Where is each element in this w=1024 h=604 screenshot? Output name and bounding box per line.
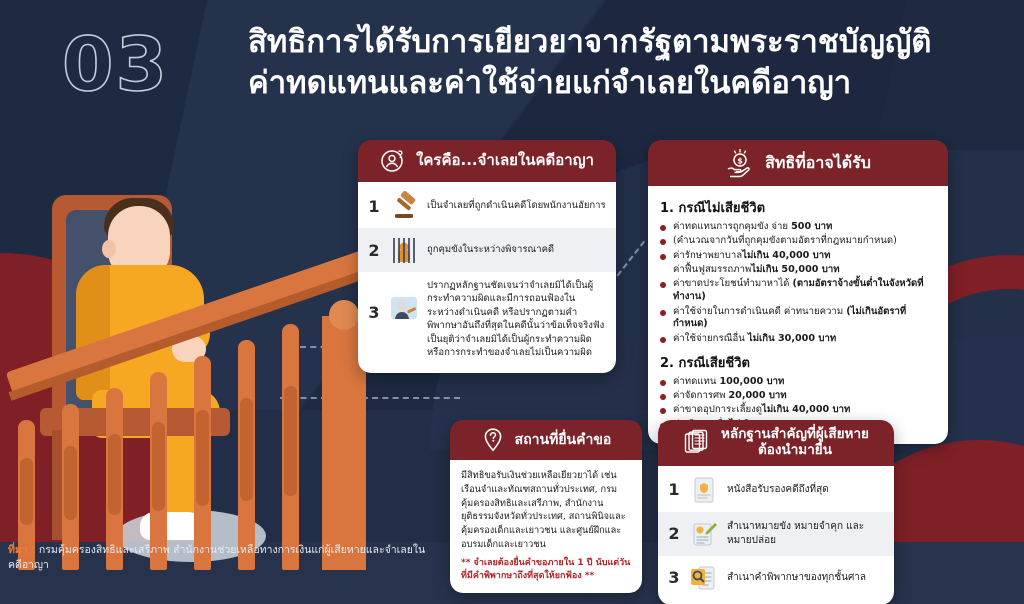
page-title: สิทธิการได้รับการเยียวยาจากรัฐตามพระราชบ… — [248, 22, 1008, 104]
item-bold: 500 บาท — [791, 221, 832, 232]
list-item: ค่าจัดการศพ 20,000 บาท — [660, 390, 936, 403]
map-pin-question-icon — [481, 427, 505, 453]
list-item[interactable]: 1 เป็นจำเลยที่ถูกดำเนินคดีโดยพนักงานอัยก… — [358, 184, 616, 228]
railing-baluster — [194, 356, 211, 570]
magnifier-document-icon — [689, 563, 719, 593]
page-title-line-1: สิทธิการได้รับการเยียวยาจากรัฐตามพระราชบ… — [248, 22, 1008, 63]
card-rights-title: สิทธิที่อาจได้รับ — [765, 154, 871, 173]
section-title-death: 2. กรณีเสียชีวิต — [660, 352, 936, 373]
list-item[interactable]: 2 ถูกคุมขังในระหว่างพิจารณาคดี — [358, 228, 616, 272]
svg-text:$: $ — [737, 157, 743, 166]
list-item: ค่าใช้จ่ายกรณีอื่น ไม่เกิน 30,000 บาท — [660, 333, 936, 346]
card-docs-header: หลักฐานสำคัญที่ผู้เสียหาย ต้องนำมายื่น — [658, 420, 894, 466]
row-text: หนังสือรับรองคดีถึงที่สุด — [727, 483, 829, 497]
list-item[interactable]: 3 ปรากฏหลักฐานชัดเจนว่าจำเลยมิได้เป็นผู้… — [358, 272, 616, 367]
card-place-note: ** จำเลยต้องยื่นคำขอภายใน 1 ปี นับแต่วัน… — [461, 557, 631, 583]
source-text: กรมคุ้มครองสิทธิและเสรีภาพ สำนักงานช่วยเ… — [8, 544, 425, 571]
item-text: ค่ารักษาพยาบาล — [673, 250, 742, 261]
list-item: ค่าใช้จ่ายในการดำเนินคดี ค่าทนายความ (ไม… — [660, 306, 936, 332]
prison-bars-icon — [389, 235, 419, 265]
source-label: ที่มา : — [8, 544, 36, 556]
card-docs-title-line-1: หลักฐานสำคัญที่ผู้เสียหาย — [721, 427, 869, 443]
card-place-title: สถานที่ยื่นคำขอ — [515, 432, 612, 449]
person-question-icon — [380, 148, 406, 174]
item-text: (คำนวณจากวันที่ถูกคุมขังตามอัตราที่กฎหมา… — [673, 235, 897, 246]
rights-list-no-death: ค่าทดแทนการถูกคุมขัง จ่าย 500 บาท (คำนวณ… — [660, 221, 936, 346]
warrant-document-icon — [689, 519, 719, 549]
section-title-no-death: 1. กรณีไม่เสียชีวิต — [660, 197, 936, 218]
person-body-shade — [76, 265, 110, 400]
item-bold: ไม่เกิน 50,000 บาท — [751, 264, 839, 275]
card-submission-place[interactable]: สถานที่ยื่นคำขอ มีสิทธิขอรับเงินช่วยเหลื… — [450, 420, 642, 593]
gavel-icon — [389, 191, 419, 221]
card-docs-title: หลักฐานสำคัญที่ผู้เสียหาย ต้องนำมายื่น — [721, 427, 869, 459]
card-who-header: ใครคือ...จำเลยในคดีอาญา — [358, 140, 616, 182]
card-place-body: มีสิทธิขอรับเงินช่วยเหลือเยียวยาได้ เช่น… — [450, 460, 642, 593]
card-rights-body: 1. กรณีไม่เสียชีวิต ค่าทดแทนการถูกคุมขัง… — [648, 186, 948, 444]
railing-baluster — [238, 340, 255, 570]
hand-coin-icon: $ — [725, 148, 755, 178]
row-text: ปรากฏหลักฐานชัดเจนว่าจำเลยมิได้เป็นผู้กร… — [427, 279, 606, 360]
row-text: สำเนาหมายขัง หมายจำคุก และหมายปล่อย — [727, 520, 884, 548]
item-text: ค่าขาดอุปการะเลี้ยงดู — [673, 404, 762, 415]
list-item: ค่าทดแทนการถูกคุมขัง จ่าย 500 บาท — [660, 221, 936, 234]
row-text: สำเนาคำพิพากษาของทุกชั้นศาล — [727, 571, 866, 585]
card-who-is-defendant[interactable]: ใครคือ...จำเลยในคดีอาญา 1 เป็นจำเลยที่ถู… — [358, 140, 616, 373]
list-item: ค่าขาดอุปการะเลี้ยงดูไม่เกิน 40,000 บาท — [660, 404, 936, 417]
row-number: 1 — [667, 480, 681, 499]
item-bold: ไม่เกิน 30,000 บาท — [748, 333, 836, 344]
list-item: ค่าทดแทน 100,000 บาท — [660, 376, 936, 389]
list-item[interactable]: 2 สำเนาหมายขัง หมายจำคุก และหมายปล่อย — [658, 512, 894, 556]
railing-baluster — [282, 324, 299, 570]
row-number: 3 — [667, 568, 681, 587]
item-bold: 20,000 บาท — [728, 390, 786, 401]
card-docs-title-line-2: ต้องนำมายื่น — [721, 443, 869, 459]
item-bold: ไม่เกิน 40,000 บาท — [742, 250, 830, 261]
list-item: (คำนวณจากวันที่ถูกคุมขังตามอัตราที่กฎหมา… — [660, 235, 936, 248]
card-who-title: ใครคือ...จำเลยในคดีอาญา — [416, 152, 594, 170]
card-required-documents[interactable]: หลักฐานสำคัญที่ผู้เสียหาย ต้องนำมายื่น 1… — [658, 420, 894, 604]
list-item: ค่าขาดประโยชน์ทำมาหาได้ (ตามอัตราจ้างขั้… — [660, 278, 936, 304]
item-bold: ไม่เกิน 40,000 บาท — [762, 404, 850, 415]
certificate-document-icon — [689, 475, 719, 505]
row-number: 1 — [367, 197, 381, 216]
row-number: 3 — [367, 303, 381, 322]
card-docs-body: 1 หนังสือรับรองคดีถึงที่สุด 2 — [658, 466, 894, 604]
judge-icon — [389, 293, 419, 323]
documents-icon — [683, 429, 711, 457]
list-item: ค่ารักษาพยาบาลไม่เกิน 40,000 บาท — [660, 250, 936, 263]
item-text: ค่าฟื้นฟูสมรรถภาพ — [673, 264, 751, 275]
item-text: ค่าใช้จ่ายในการดำเนินคดี ค่าทนายความ — [673, 306, 846, 317]
card-possible-rights[interactable]: $ สิทธิที่อาจได้รับ 1. กรณีไม่เสียชีวิต … — [648, 140, 948, 444]
item-text: ค่าจัดการศพ — [673, 390, 728, 401]
card-rights-header: $ สิทธิที่อาจได้รับ — [648, 140, 948, 186]
row-number: 2 — [667, 524, 681, 543]
item-bold: 100,000 บาท — [719, 376, 784, 387]
row-text: ถูกคุมขังในระหว่างพิจารณาคดี — [427, 243, 554, 256]
list-item[interactable]: 1 หนังสือรับรองคดีถึงที่สุด — [658, 468, 894, 512]
source-footer: ที่มา : กรมคุ้มครองสิทธิและเสรีภาพ สำนัก… — [8, 543, 438, 573]
card-who-body: 1 เป็นจำเลยที่ถูกดำเนินคดีโดยพนักงานอัยก… — [358, 182, 616, 373]
railing-newel-cap — [329, 300, 359, 330]
card-place-text: มีสิทธิขอรับเงินช่วยเหลือเยียวยาได้ เช่น… — [461, 469, 631, 552]
section-number: 03 — [62, 22, 169, 108]
person-ear — [102, 240, 116, 258]
item-text: ค่าใช้จ่ายกรณีอื่น — [673, 333, 748, 344]
list-item: ค่าฟื้นฟูสมรรถภาพไม่เกิน 50,000 บาท — [660, 264, 936, 277]
page-title-line-2: ค่าทดแทนและค่าใช้จ่ายแก่จำเลยในคดีอาญา — [248, 63, 1008, 104]
railing-baluster — [150, 372, 167, 570]
item-text: ค่าขาดประโยชน์ทำมาหาได้ — [673, 278, 792, 289]
item-text: ค่าทดแทนการถูกคุมขัง จ่าย — [673, 221, 791, 232]
row-text: เป็นจำเลยที่ถูกดำเนินคดีโดยพนักงานอัยการ — [427, 199, 606, 212]
item-text: ค่าทดแทน — [673, 376, 719, 387]
row-number: 2 — [367, 241, 381, 260]
list-item[interactable]: 3 สำเนาคำพิพากษาของทุกชั้นศาล — [658, 556, 894, 600]
card-place-header: สถานที่ยื่นคำขอ — [450, 420, 642, 460]
